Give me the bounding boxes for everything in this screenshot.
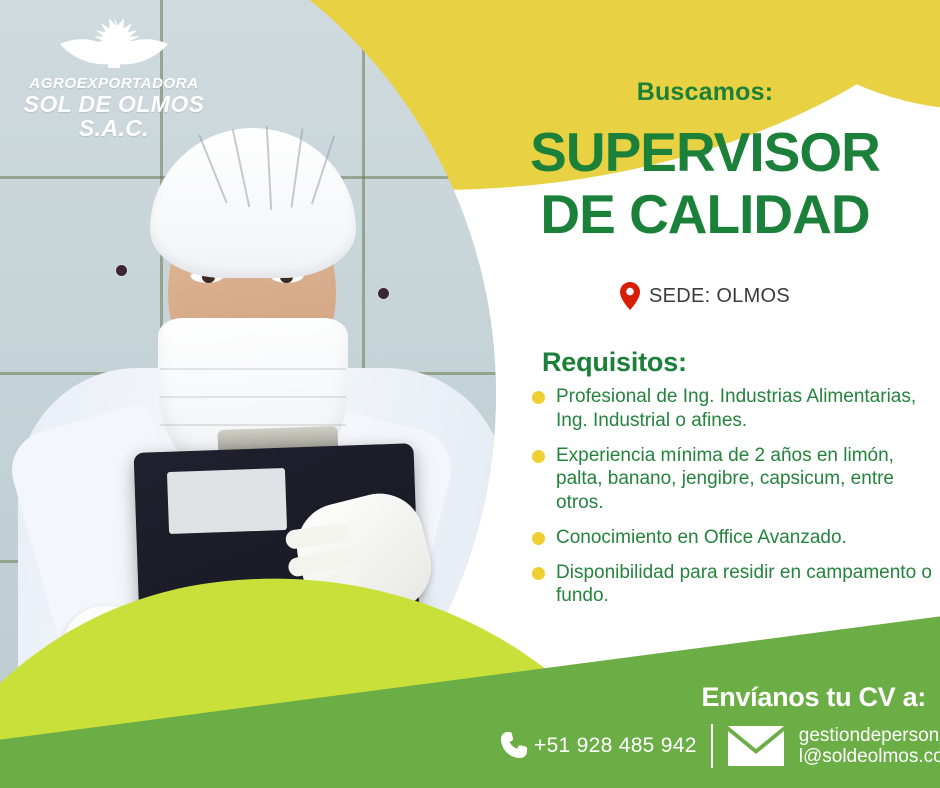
list-item: Disponibilidad para residir en campament…	[530, 561, 932, 609]
phone-number[interactable]: +51 928 485 942	[534, 734, 697, 758]
content-column: Buscamos: SUPERVISOR DE CALIDAD SEDE: OL…	[470, 0, 940, 788]
page-title: SUPERVISOR DE CALIDAD	[470, 122, 940, 245]
requirements-title: Requisitos:	[542, 347, 687, 378]
requirement-text: Profesional de Ing. Industrias Alimentar…	[556, 386, 916, 431]
email-address[interactable]: gestiondepersona l@soldeolmos.com	[799, 725, 940, 768]
email-line-2: l@soldeolmos.com	[799, 746, 940, 767]
job-title-line-1: SUPERVISOR	[530, 121, 880, 183]
hairnet	[150, 128, 356, 278]
list-item: Profesional de Ing. Industrias Alimentar…	[530, 385, 932, 433]
location-row: SEDE: OLMOS	[470, 282, 940, 310]
requirements-list: Profesional de Ing. Industrias Alimentar…	[530, 385, 932, 619]
logo-line-1: AGROEXPORTADORA	[8, 75, 220, 92]
map-pin-icon	[620, 282, 640, 310]
requirement-text: Experiencia mínima de 2 años en limón, p…	[556, 445, 894, 514]
logo-line-2: SOL DE OLMOS S.A.C.	[8, 92, 220, 140]
bullet-icon	[532, 567, 545, 580]
bullet-icon	[532, 391, 545, 404]
company-logo: AGROEXPORTADORA SOL DE OLMOS S.A.C.	[8, 10, 220, 140]
contact-divider	[711, 724, 713, 768]
sun-leaf-logo-icon	[48, 10, 180, 74]
location-label: SEDE: OLMOS	[649, 285, 790, 308]
requirement-text: Disponibilidad para residir en campament…	[556, 562, 932, 607]
contact-row: +51 928 485 942 gestiondepersona l@solde…	[500, 724, 930, 768]
envelope-icon	[727, 725, 785, 767]
clipboard-label	[167, 468, 287, 534]
job-title-line-2: DE CALIDAD	[470, 184, 940, 246]
eyebrow-text: Buscamos:	[470, 78, 940, 107]
bullet-icon	[532, 450, 545, 463]
list-item: Experiencia mínima de 2 años en limón, p…	[530, 444, 932, 515]
cv-call-to-action: Envíanos tu CV a:	[470, 682, 926, 713]
list-item: Conocimiento en Office Avanzado.	[530, 526, 932, 550]
requirement-text: Conocimiento en Office Avanzado.	[556, 527, 847, 548]
email-line-1: gestiondepersona	[799, 725, 940, 746]
job-posting-poster: AGROEXPORTADORA SOL DE OLMOS S.A.C. Busc…	[0, 0, 940, 788]
bullet-icon	[532, 532, 545, 545]
phone-icon	[500, 731, 528, 761]
